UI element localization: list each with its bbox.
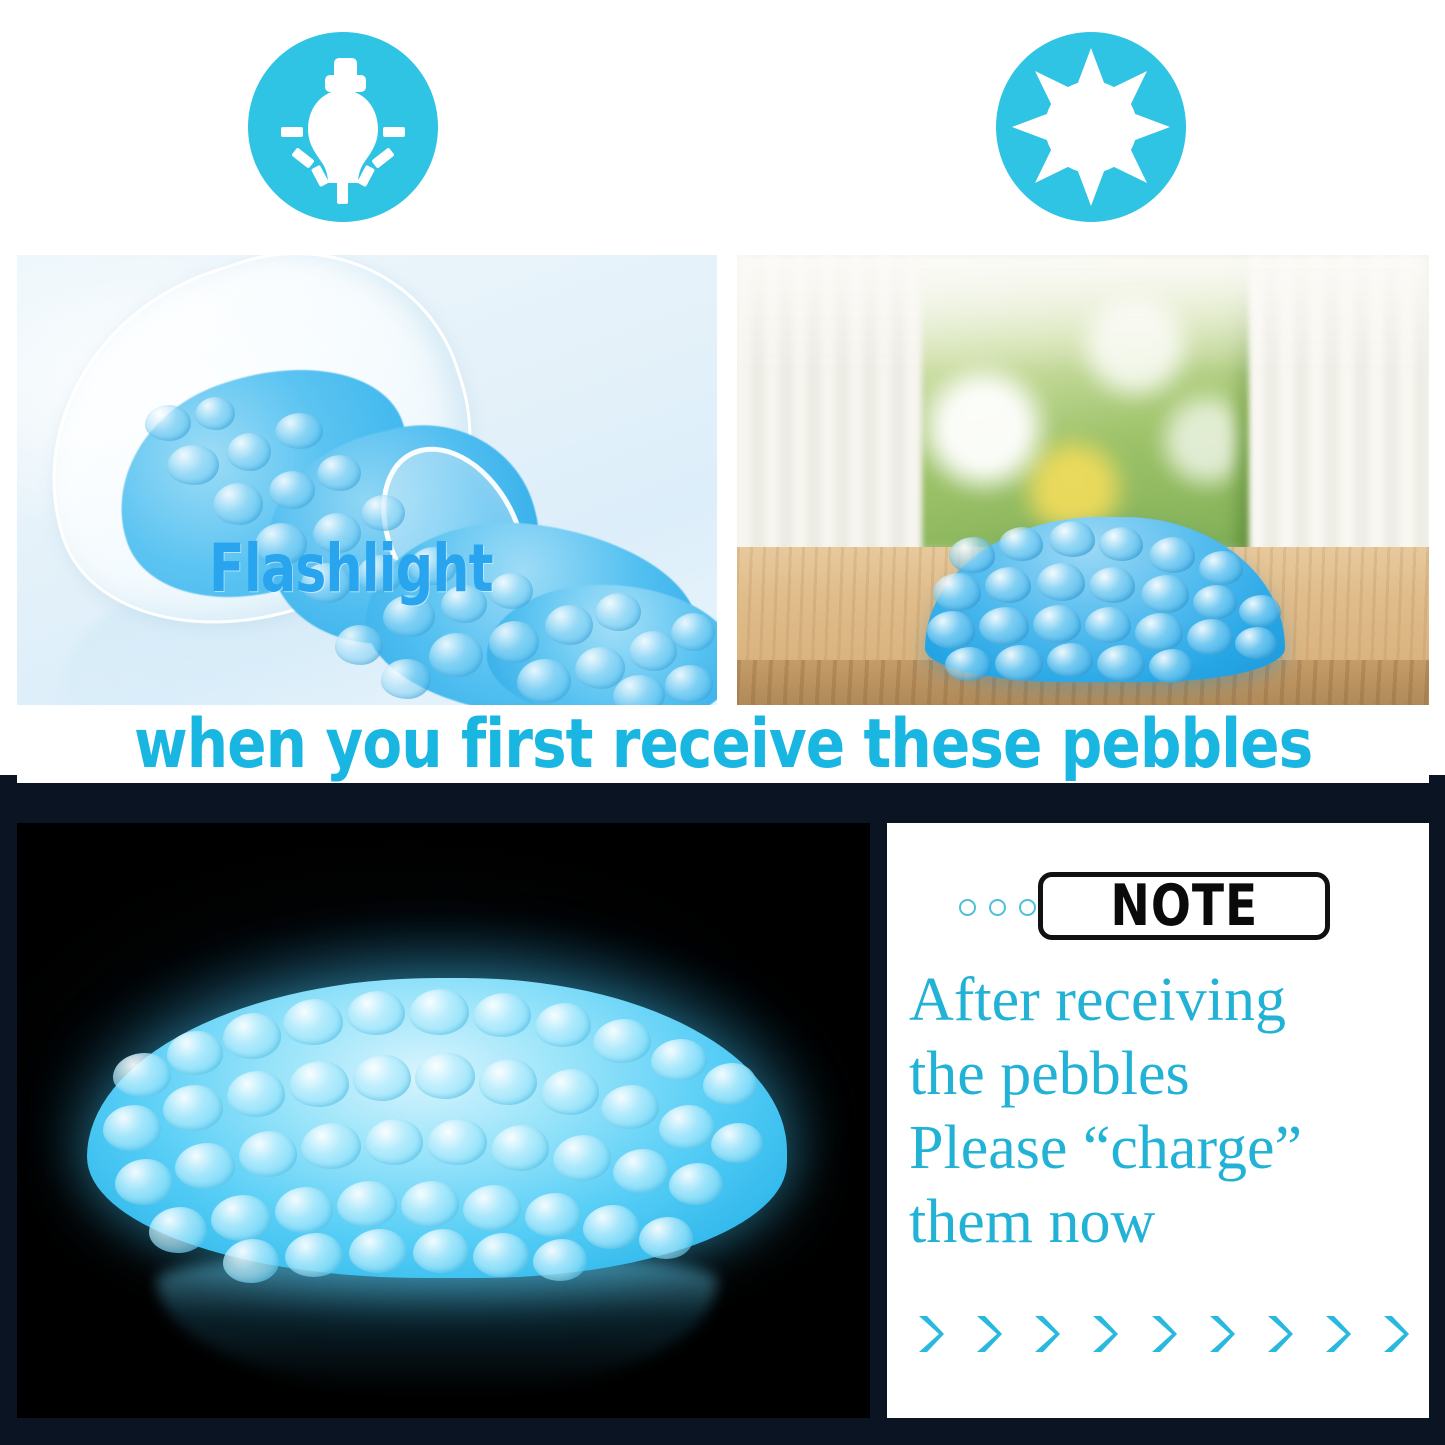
sunshine-photo: sunshine [737, 255, 1429, 705]
glow-in-dark-photo [17, 823, 870, 1418]
note-header: NOTE [887, 861, 1429, 941]
photo-row: Flashlight [0, 255, 1445, 705]
sun-icon [996, 32, 1186, 222]
flashlight-photo: Flashlight [17, 255, 717, 705]
note-line: them now [909, 1185, 1419, 1259]
bottom-row: NOTE After receiving the pebbles Please … [0, 823, 1445, 1418]
note-line: the pebbles [909, 1037, 1419, 1111]
note-badge: NOTE [1038, 872, 1330, 940]
lightbulb-icon [248, 32, 438, 222]
chevron-row [915, 1313, 1410, 1355]
note-line: Please “charge” [909, 1111, 1419, 1185]
headline-band: when you first receive these pebbles [17, 705, 1429, 783]
icon-row [0, 0, 1445, 255]
note-badge-label: NOTE [1110, 873, 1258, 939]
chevron-right-icon [915, 1313, 945, 1355]
three-dots-icon [959, 899, 1036, 916]
chevron-right-icon [1206, 1313, 1236, 1355]
flashlight-label: Flashlight [209, 530, 493, 607]
note-line: After receiving [909, 963, 1419, 1037]
infographic-page: Flashlight [0, 0, 1445, 1445]
chevron-right-icon [1031, 1313, 1061, 1355]
note-panel: NOTE After receiving the pebbles Please … [887, 823, 1429, 1418]
headline-text: when you first receive these pebbles [134, 705, 1312, 783]
note-text-body: After receiving the pebbles Please “char… [909, 963, 1419, 1259]
chevron-right-icon [1264, 1313, 1294, 1355]
chevron-right-icon [1322, 1313, 1352, 1355]
chevron-right-icon [1380, 1313, 1410, 1355]
chevron-right-icon [973, 1313, 1003, 1355]
chevron-right-icon [1148, 1313, 1178, 1355]
chevron-right-icon [1089, 1313, 1119, 1355]
